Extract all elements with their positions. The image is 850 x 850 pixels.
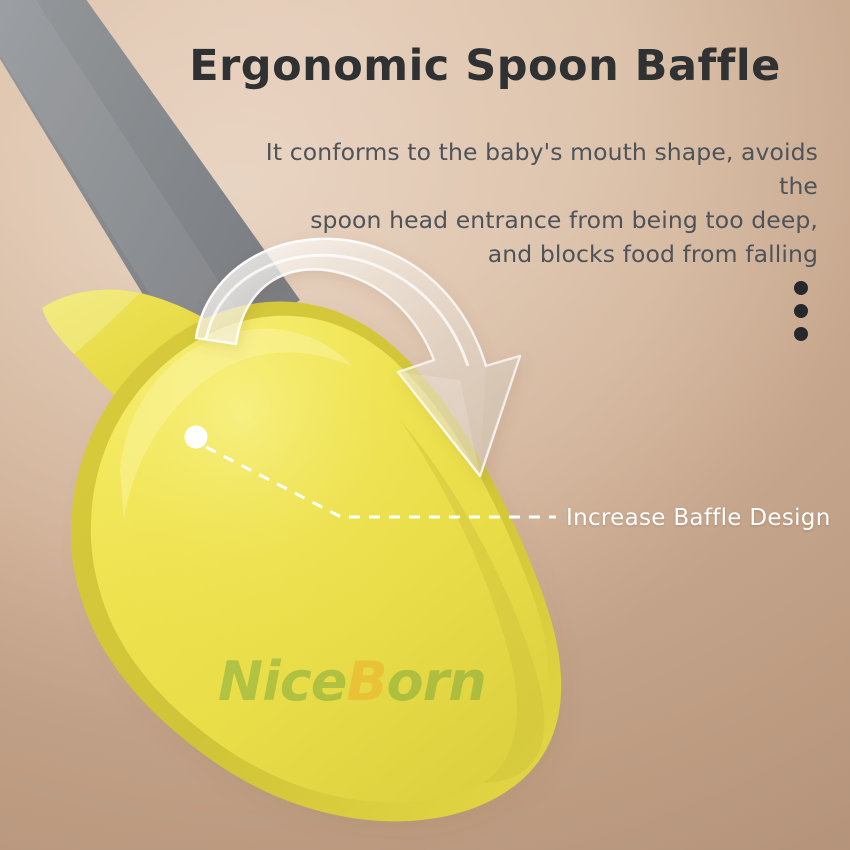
page-title: Ergonomic Spoon Baffle [150,42,820,91]
spoon-illustration: NiceBorn [0,0,850,850]
description-line-1: It conforms to the baby's mouth shape, a… [258,135,818,203]
ellipsis-dot-2 [794,304,808,318]
description-text: It conforms to the baby's mouth shape, a… [258,135,818,271]
watermark-part-1: Nice [218,650,346,713]
watermark-part-2: B [346,650,386,713]
spoon-graphic [0,0,850,850]
ellipsis-dot-3 [794,327,808,341]
ellipsis-dot-1 [794,281,808,295]
callout-label: Increase Baffle Design [566,505,831,531]
description-line-2: spoon head entrance from being too deep, [258,203,818,237]
brand-watermark: NiceBorn [218,650,486,713]
product-feature-image: NiceBorn Increase Baffle Design Ergonomi… [0,0,850,850]
vertical-ellipsis-icon[interactable] [794,281,808,341]
description-line-3: and blocks food from falling [258,237,818,271]
watermark-part-3: orn [387,650,486,713]
